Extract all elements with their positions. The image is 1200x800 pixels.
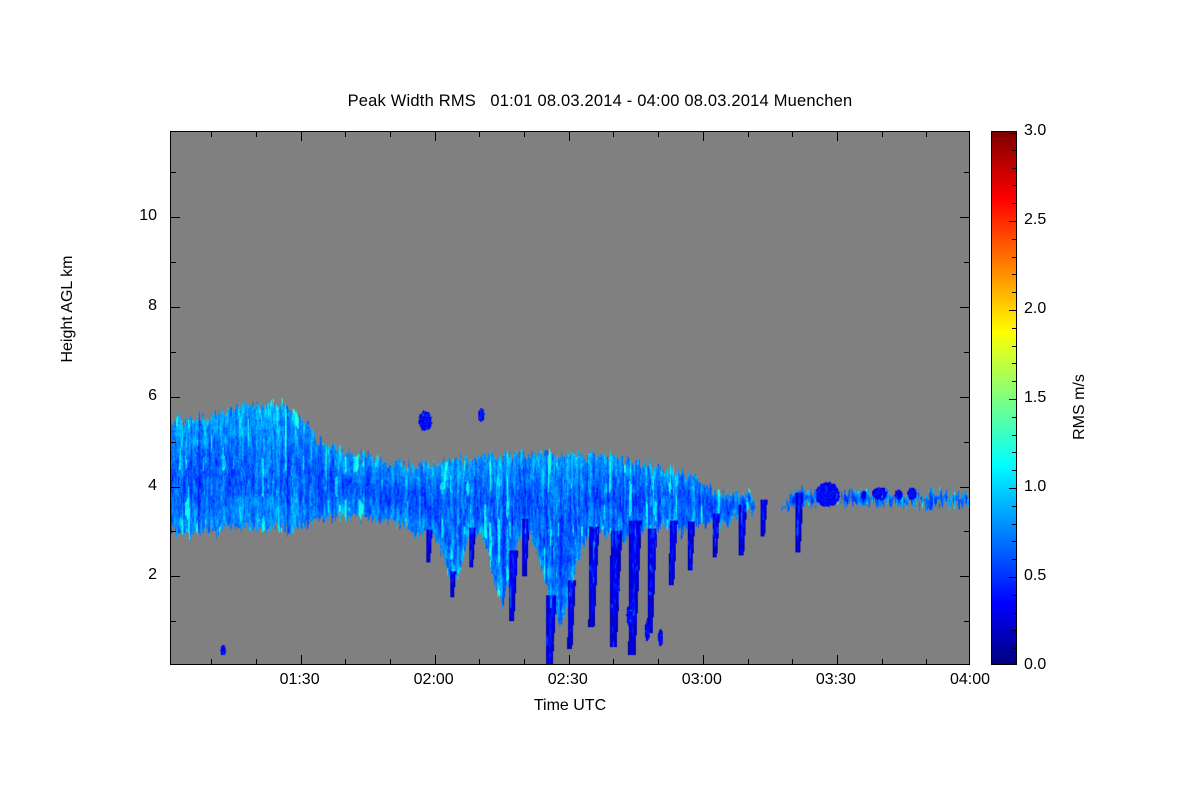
x-minor-tick-mark [345,659,346,664]
x-minor-tick-mark [524,659,525,664]
x-tick-label: 04:00 [925,671,1015,689]
y-tick-mark [171,397,180,398]
x-tick-mark [301,655,302,664]
x-minor-tick-mark [748,659,749,664]
x-minor-tick-mark [882,659,883,664]
y-tick-label: 4 [117,477,157,495]
y-minor-tick-mark [171,621,176,622]
colorbar-tick-label: 2.0 [1024,300,1084,318]
colorbar-minor-tick-mark [1012,559,1016,560]
y-tick-mark [960,307,969,308]
y-tick-mark [960,217,969,218]
x-tick-mark [703,655,704,664]
x-tick-mark [703,132,704,141]
x-tick-mark [435,132,436,141]
x-minor-tick-mark [256,132,257,137]
x-tick-mark [435,655,436,664]
colorbar-minor-tick-mark [1012,524,1016,525]
y-tick-mark [171,487,180,488]
colorbar-minor-tick-mark [1012,150,1016,151]
colorbar-tick-mark [1009,133,1016,134]
x-tick-mark [569,655,570,664]
x-tick-label: 03:30 [791,671,881,689]
colorbar-tick-mark [1009,664,1016,665]
y-tick-label: 2 [117,566,157,584]
x-minor-tick-mark [658,659,659,664]
y-minor-tick-mark [171,442,176,443]
y-minor-tick-mark [964,172,969,173]
colorbar-gradient [992,132,1016,664]
colorbar-minor-tick-mark [1012,630,1016,631]
y-minor-tick-mark [964,531,969,532]
y-minor-tick-mark [964,352,969,353]
colorbar-tick-mark [1009,577,1016,578]
colorbar-minor-tick-mark [1012,488,1016,489]
colorbar-minor-tick-mark [1012,452,1016,453]
y-minor-tick-mark [964,442,969,443]
figure-canvas: Peak Width RMS 01:01 08.03.2014 - 04:00 … [0,0,1200,800]
x-minor-tick-mark [390,659,391,664]
y-tick-mark [171,217,180,218]
heatmap-plot-area [170,131,970,665]
colorbar-tick-label: 0.5 [1024,567,1084,585]
x-minor-tick-mark [345,132,346,137]
colorbar-minor-tick-mark [1012,435,1016,436]
x-tick-label: 02:00 [389,671,479,689]
colorbar-minor-tick-mark [1012,185,1016,186]
colorbar-minor-tick-mark [1012,274,1016,275]
y-minor-tick-mark [171,531,176,532]
colorbar-minor-tick-mark [1012,470,1016,471]
y-tick-mark [960,576,969,577]
y-tick-mark [960,487,969,488]
x-tick-label: 01:30 [255,671,345,689]
x-minor-tick-mark [748,132,749,137]
x-tick-label: 02:30 [523,671,613,689]
colorbar-minor-tick-mark [1012,613,1016,614]
colorbar-label: RMS m/s [1071,327,1089,487]
x-minor-tick-mark [211,659,212,664]
colorbar-tick-label: 0.0 [1024,656,1084,674]
colorbar [991,131,1017,665]
x-minor-tick-mark [613,132,614,137]
colorbar-minor-tick-mark [1012,257,1016,258]
x-minor-tick-mark [658,132,659,137]
x-tick-mark [301,132,302,141]
x-minor-tick-mark [792,659,793,664]
colorbar-tick-mark [1009,310,1016,311]
y-tick-label: 6 [117,387,157,405]
colorbar-tick-mark [1009,399,1016,400]
y-minor-tick-mark [171,172,176,173]
colorbar-minor-tick-mark [1012,346,1016,347]
y-minor-tick-mark [171,352,176,353]
x-minor-tick-mark [926,659,927,664]
y-tick-mark [171,576,180,577]
heatmap-data-canvas [171,132,969,664]
colorbar-minor-tick-mark [1012,506,1016,507]
x-tick-mark [837,132,838,141]
x-axis-label: Time UTC [170,697,970,715]
x-minor-tick-mark [256,659,257,664]
colorbar-minor-tick-mark [1012,648,1016,649]
x-minor-tick-mark [613,659,614,664]
x-tick-mark [569,132,570,141]
x-minor-tick-mark [390,132,391,137]
colorbar-minor-tick-mark [1012,239,1016,240]
x-minor-tick-mark [524,132,525,137]
x-minor-tick-mark [211,132,212,137]
y-minor-tick-mark [171,262,176,263]
colorbar-minor-tick-mark [1012,292,1016,293]
x-minor-tick-mark [479,132,480,137]
colorbar-minor-tick-mark [1012,363,1016,364]
colorbar-minor-tick-mark [1012,541,1016,542]
colorbar-minor-tick-mark [1012,381,1016,382]
page-title: Peak Width RMS 01:01 08.03.2014 - 04:00 … [0,92,1200,111]
x-minor-tick-mark [792,132,793,137]
colorbar-minor-tick-mark [1012,417,1016,418]
x-tick-mark [837,655,838,664]
y-tick-label: 10 [117,207,157,225]
colorbar-tick-mark [1009,221,1016,222]
x-tick-label: 03:00 [657,671,747,689]
y-minor-tick-mark [964,262,969,263]
y-tick-mark [171,307,180,308]
colorbar-tick-label: 2.5 [1024,211,1084,229]
y-minor-tick-mark [964,621,969,622]
colorbar-minor-tick-mark [1012,203,1016,204]
x-minor-tick-mark [882,132,883,137]
x-minor-tick-mark [926,132,927,137]
colorbar-tick-label: 3.0 [1024,122,1084,140]
y-axis-label: Height AGL km [59,179,77,439]
colorbar-minor-tick-mark [1012,595,1016,596]
colorbar-minor-tick-mark [1012,328,1016,329]
colorbar-minor-tick-mark [1012,168,1016,169]
y-tick-mark [960,397,969,398]
y-tick-label: 8 [117,297,157,315]
x-minor-tick-mark [479,659,480,664]
